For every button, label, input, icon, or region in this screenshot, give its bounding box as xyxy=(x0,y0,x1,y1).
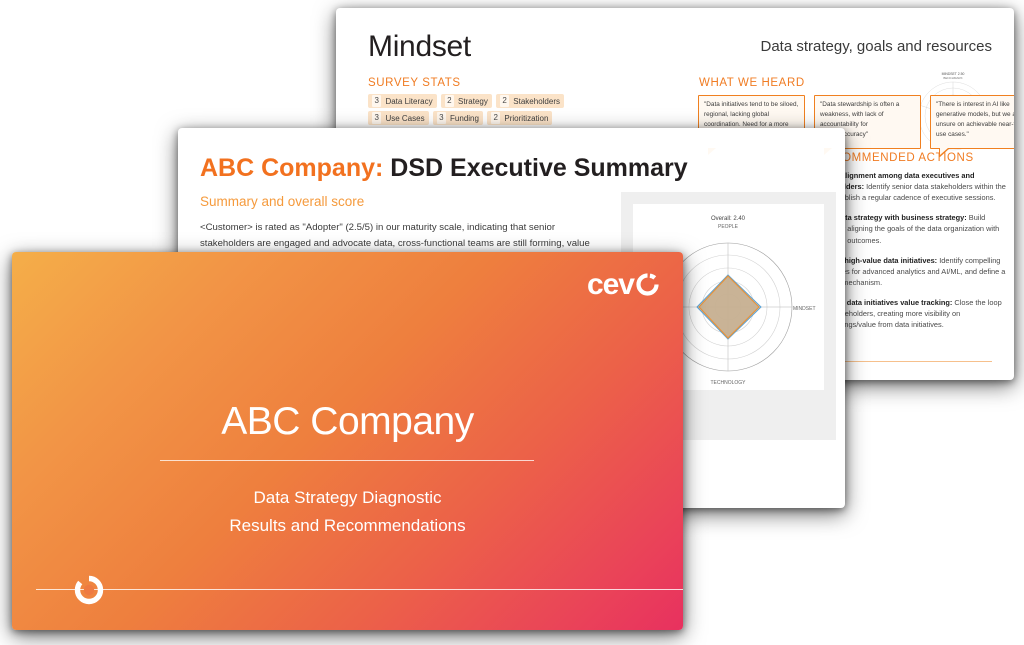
survey-stat-badge: 2Strategy xyxy=(441,94,492,108)
svg-text:BENCHMARK: BENCHMARK xyxy=(943,76,962,80)
mindset-subtitle: Data strategy, goals and resources xyxy=(760,38,992,55)
summary-section-heading: Summary and overall score xyxy=(200,194,364,209)
cover-footer-rule xyxy=(36,589,683,590)
slide-stack: Mindset Data strategy, goals and resourc… xyxy=(0,0,1024,645)
survey-stat-score: 2 xyxy=(491,112,500,124)
survey-stat-score: 2 xyxy=(500,95,509,107)
cover-subtitle-line2: Results and Recommendations xyxy=(12,512,683,540)
cover-divider xyxy=(160,460,534,461)
mindset-title: Mindset xyxy=(368,30,471,64)
survey-stat-label: Funding xyxy=(450,114,479,123)
cover-subtitle-line1: Data Strategy Diagnostic xyxy=(12,484,683,512)
survey-stat-badge: 3Funding xyxy=(433,111,483,125)
survey-stat-label: Use Cases xyxy=(385,114,424,123)
what-we-heard-heading: WHAT WE HEARD xyxy=(699,77,805,89)
survey-stat-badge: 3Data Literacy xyxy=(368,94,437,108)
overall-score-label: Overall: 2.40 xyxy=(711,216,746,222)
survey-stat-score: 3 xyxy=(372,95,381,107)
cover-company-title: ABC Company xyxy=(12,400,683,444)
quote-bubble: "There is interest in AI like generative… xyxy=(930,95,1014,149)
svg-text:MINDSET: MINDSET xyxy=(793,306,816,312)
survey-stat-badge: 2Prioritization xyxy=(487,111,552,125)
cevo-logo: cev xyxy=(587,268,659,302)
survey-stat-score: 2 xyxy=(445,95,454,107)
survey-stat-score: 3 xyxy=(437,112,446,124)
cevo-logo-text: cev xyxy=(587,268,634,302)
cevo-circle-mark-icon xyxy=(74,575,104,605)
survey-stat-score: 3 xyxy=(372,112,381,124)
survey-stat-label: Data Literacy xyxy=(385,97,432,106)
exec-summary-title-company: ABC Company: xyxy=(200,154,383,182)
svg-text:TECHNOLOGY: TECHNOLOGY xyxy=(710,380,746,386)
slide-title-cover[interactable]: cev ABC Company Data Strategy Diagnostic… xyxy=(12,252,683,630)
exec-summary-title: ABC Company: DSD Executive Summary xyxy=(200,154,688,183)
survey-stat-label: Strategy xyxy=(458,97,488,106)
svg-text:PEOPLE: PEOPLE xyxy=(718,224,739,230)
survey-stat-badge: 2Stakeholders xyxy=(496,94,564,108)
exec-summary-title-rest: DSD Executive Summary xyxy=(390,154,687,182)
survey-stats-heading: SURVEY STATS xyxy=(368,77,461,89)
survey-stat-label: Stakeholders xyxy=(513,97,560,106)
cevo-logo-mark-icon xyxy=(636,270,659,293)
survey-stat-badge: 3Use Cases xyxy=(368,111,429,125)
cover-subtitle: Data Strategy Diagnostic Results and Rec… xyxy=(12,484,683,540)
survey-stat-label: Prioritization xyxy=(504,114,548,123)
